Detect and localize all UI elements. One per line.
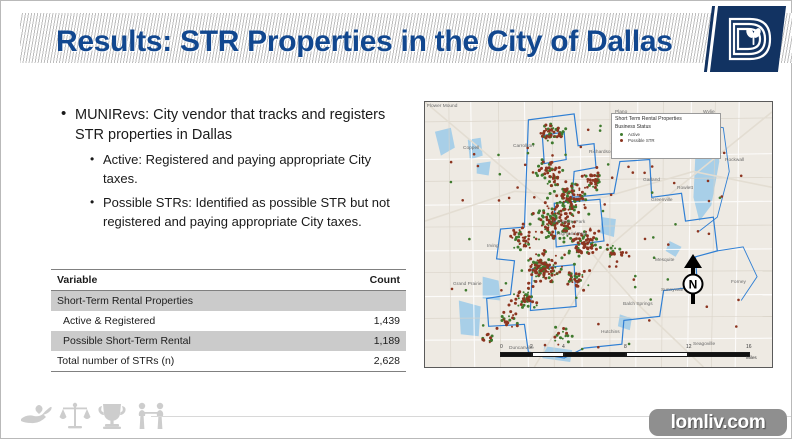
map-label: Balch Springs [623, 302, 653, 307]
title-band: Results: STR Properties in the City of D… [20, 13, 792, 63]
map-label: Coppell [463, 146, 479, 151]
city-of-dallas-logo [706, 6, 782, 72]
cell-count: 2,628 [326, 351, 406, 372]
column-header-variable: Variable [51, 270, 326, 291]
map-label: Forney [731, 280, 746, 285]
scale-unit: Miles [746, 355, 757, 360]
map-label: Greenville [651, 198, 673, 203]
scale-tick: 12 [686, 344, 692, 350]
scale-tick: 2 [530, 344, 533, 350]
table-row: Possible Short-Term Rental 1,189 [51, 331, 406, 351]
map-scalebar: 0 2 4 8 12 16 Miles [500, 344, 762, 362]
map-label: Hutchins [601, 330, 620, 335]
cell-variable: Short-Term Rental Properties [51, 291, 326, 312]
watermark-text: lomliv.com [671, 412, 766, 434]
table-row: Active & Registered 1,439 [51, 311, 406, 331]
map-label: Rockwall [725, 158, 744, 163]
cell-variable: Active & Registered [51, 311, 326, 331]
scale-tick: 0 [500, 344, 503, 350]
compass-north-icon: N [678, 254, 708, 308]
map-label: Rowlett [677, 186, 693, 191]
legend-label-possible: Possible STR [628, 138, 655, 143]
map-label: Carrollton [513, 144, 534, 149]
watermark-badge: lomliv.com [649, 409, 787, 436]
cell-variable: Possible Short-Term Rental [51, 331, 326, 351]
cell-count: 1,439 [326, 311, 406, 331]
map-label: Garland [643, 178, 660, 183]
map-label: Richardson [589, 150, 613, 155]
map-label: Grand Prairie [453, 282, 482, 287]
legend-entry-possible: Possible STR [612, 137, 720, 143]
column-header-count: Count [326, 270, 406, 291]
svg-text:N: N [689, 278, 698, 292]
bullet-main: MUNIRevs: City vendor that tracks and re… [59, 105, 409, 145]
page-title: Results: STR Properties in the City of D… [56, 25, 736, 59]
map-legend: Short Term Rental Properties Business St… [611, 113, 721, 159]
str-counts-table: Variable Count Short-Term Rental Propert… [51, 269, 406, 372]
map-label: University Park [553, 220, 585, 225]
map-label: Highland Park [557, 232, 587, 237]
scale-tick: 4 [562, 344, 565, 350]
table-row: Total number of STRs (n) 2,628 [51, 351, 406, 372]
bullet-sublist: Active: Registered and paying appropriat… [89, 151, 409, 231]
table: Variable Count Short-Term Rental Propert… [51, 269, 406, 372]
cell-count [326, 291, 406, 312]
cell-count: 1,189 [326, 331, 406, 351]
map-label: Irving [487, 244, 499, 249]
legend-title: Short Term Rental Properties [612, 114, 720, 123]
map-label: Flower Mound [427, 104, 457, 109]
trophy-icon [97, 402, 127, 430]
bullet-list: MUNIRevs: City vendor that tracks and re… [59, 105, 409, 237]
cell-variable: Total number of STRs (n) [51, 351, 326, 372]
slide-canvas: Results: STR Properties in the City of D… [0, 0, 792, 439]
legend-label-active: Active [628, 132, 640, 137]
table-header-row: Variable Count [51, 270, 406, 291]
legend-subtitle: Business Status [612, 123, 720, 131]
map-label: Mesquite [655, 258, 674, 263]
legend-dot-possible-icon [620, 139, 623, 142]
bullet-sub-active: Active: Registered and paying appropriat… [89, 151, 409, 188]
legend-dot-active-icon [620, 133, 623, 136]
scales-of-justice-icon [59, 402, 91, 430]
flying-d-icon [720, 12, 776, 66]
caring-hands-heart-icon [19, 402, 53, 430]
bullet-sub-possible: Possible STRs: Identified as possible ST… [89, 194, 409, 231]
scale-tick: 8 [624, 344, 627, 350]
scale-tick: 16 [746, 344, 752, 350]
dallas-str-map[interactable]: Flower Mound Coppell Carrollton Richards… [424, 101, 773, 368]
table-row: Short-Term Rental Properties [51, 291, 406, 312]
